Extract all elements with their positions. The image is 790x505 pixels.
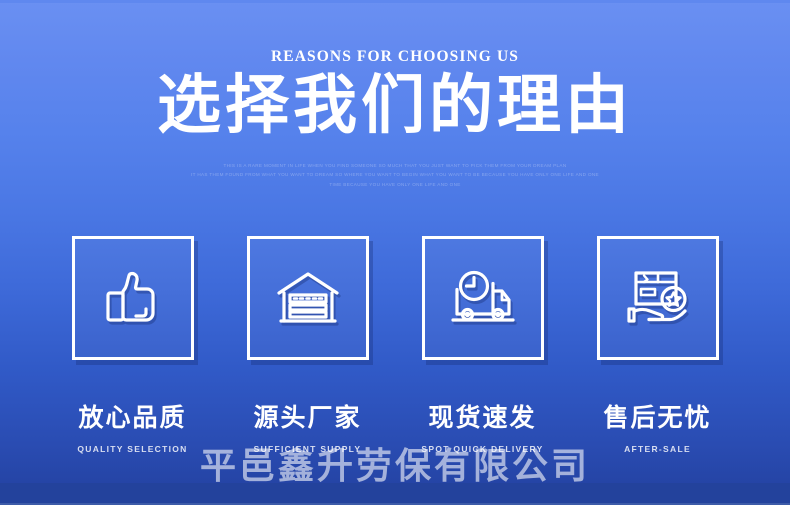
feature-list: 放心品质 QUALITY SELECTION <box>0 236 790 454</box>
feature-item-delivery: 现货速发 SPOT QUICK DELIVERY <box>417 236 549 454</box>
thumbs-up-icon <box>101 267 165 329</box>
icon-frame <box>597 236 719 360</box>
feature-item-quality: 放心品质 QUALITY SELECTION <box>67 236 199 454</box>
feature-title-cn: 源头厂家 <box>253 398 361 434</box>
feature-title-cn: 放心品质 <box>78 398 186 434</box>
banner-eyebrow: REASONS FOR CHOOSING US <box>0 48 790 66</box>
feature-title-en: SPOT QUICK DELIVERY <box>421 444 543 454</box>
promo-banner: REASONS FOR CHOOSING US 选择我们的理由 THIS IS … <box>0 0 790 505</box>
feature-title-en: SUFFICIENT SUPPLY <box>254 444 362 454</box>
top-accent-strip <box>0 0 790 3</box>
bottom-band <box>0 483 790 505</box>
icon-frame <box>72 236 194 360</box>
hand-holding-box-star-icon <box>625 268 691 328</box>
delivery-truck-clock-icon <box>449 269 517 327</box>
icon-frame <box>422 236 544 360</box>
page-title: 选择我们的理由 <box>0 72 790 139</box>
banner-subcopy: THIS IS A RARE MOMENT IN LIFE WHEN YOU F… <box>115 161 675 189</box>
warehouse-icon <box>275 269 341 327</box>
feature-title-en: QUALITY SELECTION <box>77 444 187 454</box>
feature-title-en: AFTER-SALE <box>624 444 691 454</box>
feature-title-cn: 现货速发 <box>428 398 536 434</box>
feature-title-cn: 售后无忧 <box>603 398 711 434</box>
icon-frame <box>247 236 369 360</box>
feature-item-factory: 源头厂家 SUFFICIENT SUPPLY <box>242 236 374 454</box>
feature-item-after-sale: 售后无忧 AFTER-SALE <box>592 236 724 454</box>
